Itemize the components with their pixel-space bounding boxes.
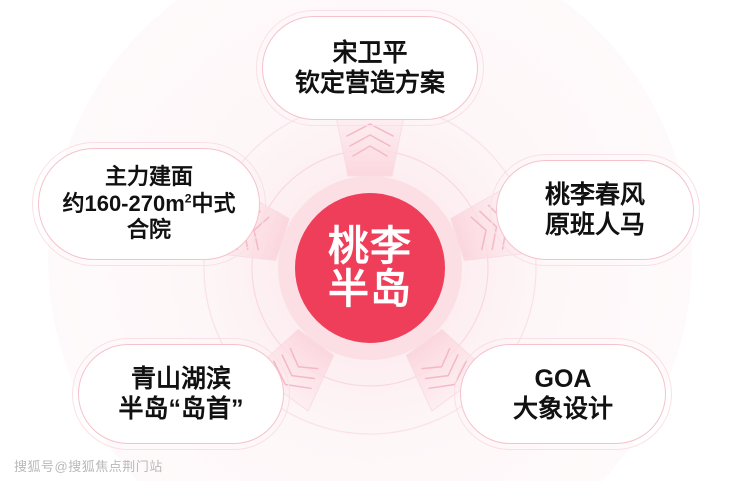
node-bubble-left-area-superscript: 2 [185, 191, 192, 205]
node-bubble-left-line-2: 约160-270m2中式 [62, 191, 235, 218]
center-hub-core: 桃李 半岛 [295, 193, 445, 343]
center-hub-label: 桃李 半岛 [328, 225, 412, 312]
node-bubble-left[interactable]: 主力建面 约160-270m2中式 合院 [38, 148, 260, 260]
node-bubble-left-line-1: 主力建面 [62, 164, 235, 191]
node-bubble-top-line-2: 钦定营造方案 [295, 68, 445, 99]
node-bubble-bottom-right-line-1: GOA [513, 364, 613, 395]
node-bubble-bottom-left-line-1: 青山湖滨 [118, 364, 243, 395]
node-bubble-left-area-prefix: 约160-270m [62, 191, 184, 216]
node-bubble-bottom-right[interactable]: GOA 大象设计 [460, 344, 666, 444]
center-hub-line-1: 桃李 [328, 225, 412, 268]
node-bubble-right[interactable]: 桃李春风 原班人马 [496, 160, 694, 260]
node-bubble-right-line-1: 桃李春风 [545, 180, 645, 211]
node-bubble-left-line-3: 合院 [62, 217, 235, 244]
center-hub-line-2: 半岛 [328, 268, 412, 311]
node-bubble-left-area-suffix: 中式 [192, 191, 236, 216]
node-bubble-left-text: 主力建面 约160-270m2中式 合院 [62, 164, 235, 244]
watermark-text: 搜狐号@搜狐焦点荆门站 [14, 456, 163, 475]
node-bubble-right-text: 桃李春风 原班人马 [545, 180, 645, 241]
node-bubble-bottom-left-text: 青山湖滨 半岛“岛首” [118, 364, 243, 425]
node-bubble-bottom-right-text: GOA 大象设计 [513, 364, 613, 425]
node-bubble-bottom-left-line-2: 半岛“岛首” [118, 394, 243, 425]
node-bubble-bottom-right-line-2: 大象设计 [513, 394, 613, 425]
node-bubble-top-line-1: 宋卫平 [295, 38, 445, 69]
ray-to-top [336, 116, 404, 176]
node-bubble-bottom-left[interactable]: 青山湖滨 半岛“岛首” [78, 344, 284, 444]
center-hub: 桃李 半岛 [278, 176, 462, 360]
node-bubble-top[interactable]: 宋卫平 钦定营造方案 [262, 16, 478, 120]
node-bubble-top-text: 宋卫平 钦定营造方案 [295, 38, 445, 99]
node-bubble-right-line-2: 原班人马 [545, 210, 645, 241]
infographic-canvas: 桃李 半岛 宋卫平 钦定营造方案 主力建面 约160-270m2中式 合院 桃李… [0, 0, 740, 481]
